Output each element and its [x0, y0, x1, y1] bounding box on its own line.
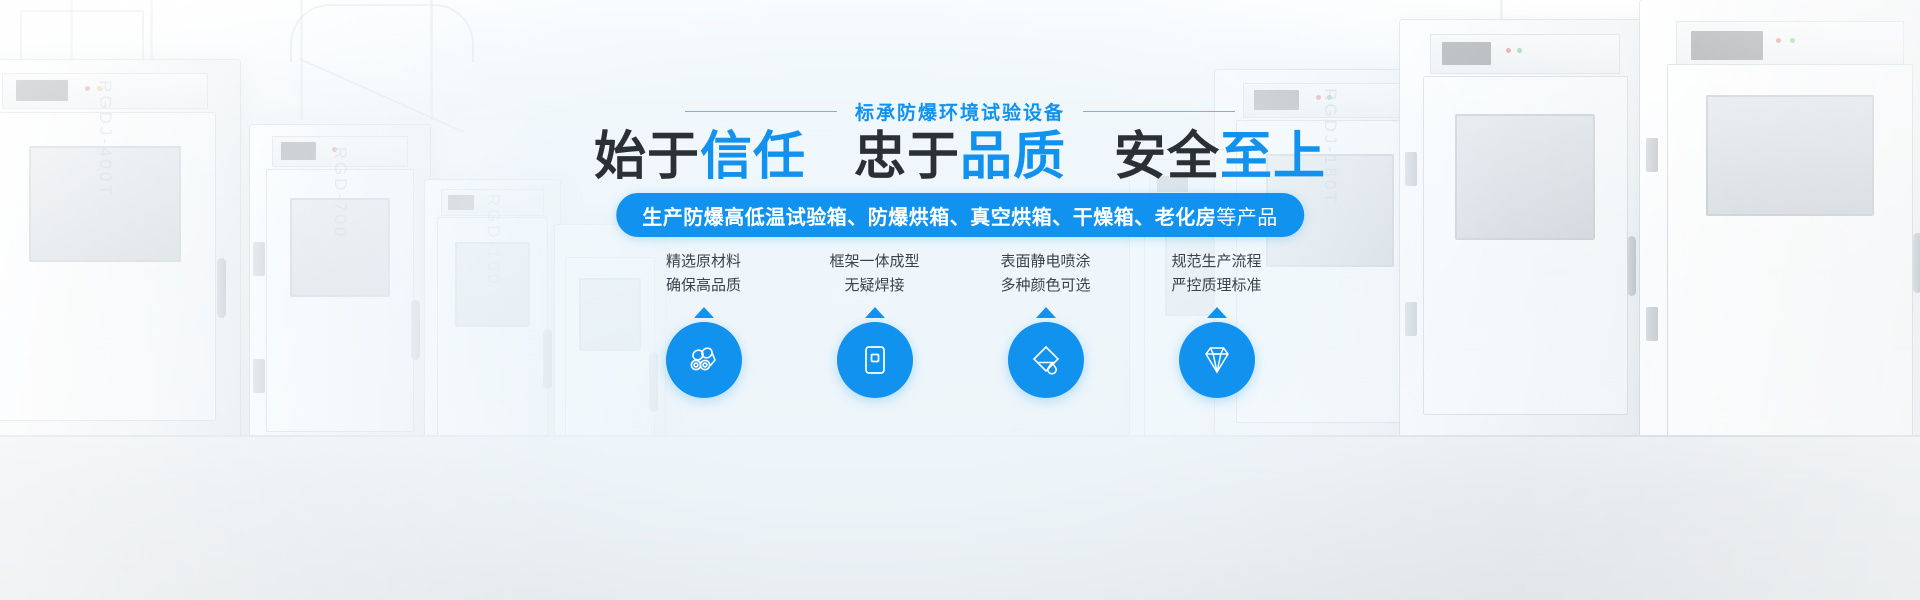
diamond-icon	[1198, 341, 1236, 379]
feature-item-coating[interactable]: 表面静电喷涂 多种颜色可选	[983, 250, 1108, 398]
feature-line-1: 框架一体成型	[829, 250, 919, 274]
paint-droplet-icon	[1027, 341, 1065, 379]
hero-banner: RGDJ-400T RGD-700 RGD-100	[0, 0, 1920, 600]
eyebrow-row: 标承防爆环境试验设备	[0, 98, 1920, 125]
product-pill-banner: 生产防爆高低温试验箱、防爆烘箱、真空烘箱、干燥箱、老化房等产品	[616, 193, 1304, 237]
headline-part-3-dark: 安全	[1114, 128, 1220, 186]
feature-line-1: 规范生产流程	[1171, 250, 1261, 274]
feature-line-1: 精选原材料	[666, 250, 741, 274]
feature-item-materials[interactable]: 精选原材料 确保高品质	[641, 250, 766, 398]
headline: 始于信任忠于品质安全至上	[0, 128, 1920, 188]
feature-text: 精选原材料 确保高品质	[666, 250, 741, 298]
feature-list: 精选原材料 确保高品质	[641, 250, 1279, 398]
feature-icon-circle[interactable]	[666, 322, 742, 398]
feature-icon-circle[interactable]	[1179, 322, 1255, 398]
stacked-pipes-icon	[685, 341, 723, 379]
feature-line-2: 严控质理标准	[1171, 274, 1261, 298]
eyebrow-rule-right	[1083, 111, 1235, 112]
feature-item-frame[interactable]: 框架一体成型 无疑焊接	[812, 250, 937, 398]
pointer-triangle-icon	[694, 307, 714, 318]
feature-line-2: 无疑焊接	[829, 274, 919, 298]
feature-text: 规范生产流程 严控质理标准	[1171, 250, 1261, 298]
feature-item-process[interactable]: 规范生产流程 严控质理标准	[1154, 250, 1279, 398]
headline-part-2-dark: 忠于	[854, 128, 960, 186]
product-pill-text: 生产防爆高低温试验箱、防爆烘箱、真空烘箱、干燥箱、老化房等产品	[642, 201, 1278, 230]
pointer-triangle-icon	[1036, 307, 1056, 318]
feature-line-1: 表面静电喷涂	[1000, 250, 1090, 274]
headline-part-1-dark: 始于	[594, 128, 700, 186]
banner-content: 标承防爆环境试验设备 始于信任忠于品质安全至上 生产防爆高低温试验箱、防爆烘箱、…	[0, 0, 1920, 600]
feature-text: 框架一体成型 无疑焊接	[829, 250, 919, 298]
feature-line-2: 多种颜色可选	[1000, 274, 1090, 298]
headline-part-1-accent: 信任	[700, 128, 806, 186]
eyebrow-text: 标承防爆环境试验设备	[855, 98, 1065, 125]
eyebrow-rule-left	[685, 111, 837, 112]
feature-icon-circle[interactable]	[1008, 322, 1084, 398]
product-suffix: 等产品	[1216, 207, 1278, 229]
product-list: 生产防爆高低温试验箱、防爆烘箱、真空烘箱、干燥箱、老化房	[642, 207, 1216, 229]
headline-part-2-accent: 品质	[960, 128, 1066, 186]
frame-panel-icon	[857, 342, 893, 378]
pointer-triangle-icon	[865, 307, 885, 318]
pointer-triangle-icon	[1207, 307, 1227, 318]
feature-text: 表面静电喷涂 多种颜色可选	[1000, 250, 1090, 298]
feature-line-2: 确保高品质	[666, 274, 741, 298]
feature-icon-circle[interactable]	[837, 322, 913, 398]
headline-part-3-accent: 至上	[1220, 128, 1326, 186]
